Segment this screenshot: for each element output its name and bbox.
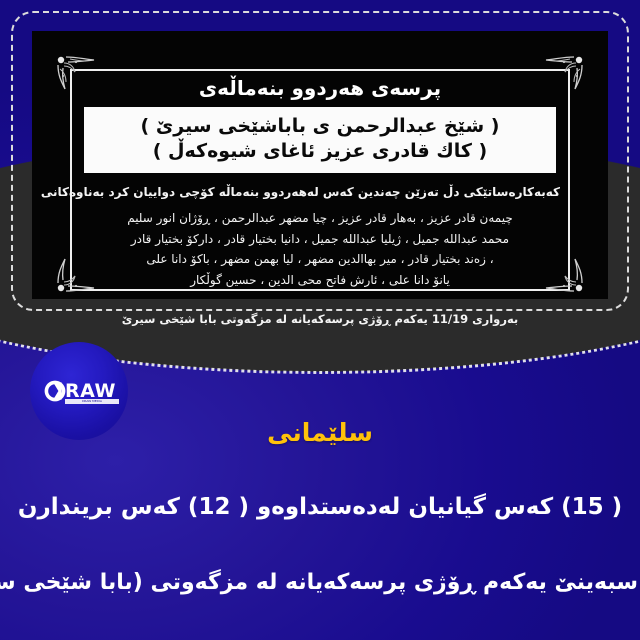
panel-frame-line-left (70, 69, 72, 291)
victim-name-list: چیمەن قادر عزیز ، بەهار قادر عزیز ، چیا … (80, 208, 560, 291)
casualty-headline: ( 15) كەس گیانیان لەدەستداوەو ( 12) كەس … (8, 494, 632, 520)
victim-name-line: ، زەند بختیار قادر ، میر بهاالدین مضهر ،… (80, 249, 560, 270)
obituary-footer-date: بەرواری 11/19 یەكەم ڕۆژى پرسەكەیانە لە م… (80, 312, 560, 326)
victim-name-line: چیمەن قادر عزیز ، بەهار قادر عزیز ، چیا … (80, 208, 560, 229)
deceased-name-line: ( شێخ عبدالرحمن ى باباشێخى سیرێ ) (92, 114, 548, 139)
victim-name-line: یانۆ دانا على ، ئارش فاتح محى الدین ، حس… (80, 270, 560, 291)
obituary-body: كەبەكارەساتێكى دڵ تەزێن چەندین كەس لەهەر… (80, 183, 560, 291)
obituary-lead-text: كەبەكارەساتێكى دڵ تەزێن چەندین كەس لەهەر… (80, 183, 560, 201)
deceased-names-box: ( شێخ عبدالرحمن ى باباشێخى سیرێ ) ( كاك … (84, 107, 556, 173)
city-label: سلێمانی (0, 418, 640, 447)
funeral-announcement: سبەینێ یەكەم ڕۆژى پرسەكەیانە لە مزگەوتى … (2, 570, 638, 595)
victim-name-line: محمد عبدالله جمیل ، ژیلیا عبدالله جمیل ،… (80, 229, 560, 250)
deceased-name-line: ( كاك قادرى عزیز ئاغاى شیوەكەڵ ) (92, 139, 548, 164)
obituary-poster: پرسەی هەردوو بنەماڵەی ( شێخ عبدالرحمن ى … (0, 0, 640, 640)
logo-raw-text: RAW (65, 382, 116, 401)
panel-frame-line-right (568, 69, 570, 291)
logo-subtitle: DRAW MEDIA (65, 399, 119, 404)
panel-frame-line-top (70, 69, 570, 71)
obituary-panel: پرسەی هەردوو بنەماڵەی ( شێخ عبدالرحمن ى … (32, 31, 608, 299)
obituary-title: پرسەی هەردوو بنەماڵەی (78, 75, 562, 101)
logo-d-icon (43, 379, 67, 403)
